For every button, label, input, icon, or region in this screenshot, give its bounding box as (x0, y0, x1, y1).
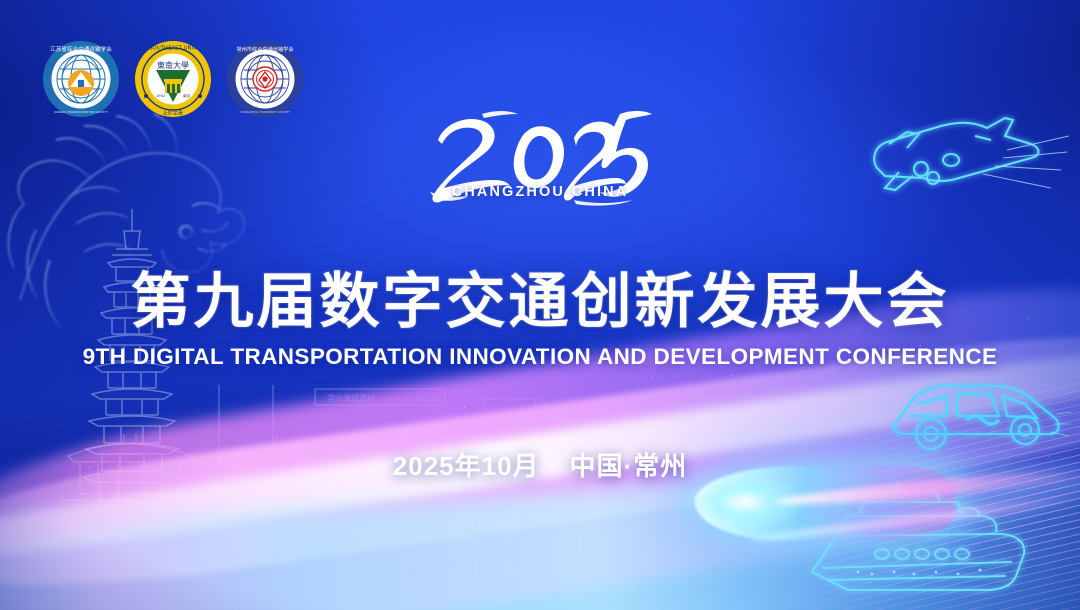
svg-text:SOUTHEAST UNIV: SOUTHEAST UNIV (149, 46, 197, 52)
conference-title-chinese: 第九届数字交通创新发展大会 (0, 272, 1080, 332)
conference-poster: 常州淹城遗址 (0, 0, 1080, 610)
event-date: 2025年10月 (393, 446, 540, 483)
svg-text:常州淹城遗址: 常州淹城遗址 (327, 393, 375, 403)
svg-text:江苏省综合交通运输学会: 江苏省综合交通运输学会 (50, 45, 112, 53)
year-city-line: CHANGZHOU·CHINA (452, 184, 629, 200)
svg-text:東南大學: 東南大學 (157, 60, 189, 70)
ship-wake-lines (640, 369, 1080, 610)
svg-text:常州市综合交通运输学会: 常州市综合交通运输学会 (236, 45, 293, 53)
event-location: 中国·常州 (570, 446, 688, 483)
year-block: CHANGZHOU·CHINA (0, 104, 1080, 200)
cruise-ship-wireframe (802, 476, 1052, 610)
high-speed-train-light (655, 414, 1080, 604)
title-block: 第九届数字交通创新发展大会 9TH DIGITAL TRANSPORTATION… (0, 272, 1080, 369)
svg-text:南京: 南京 (183, 93, 191, 98)
svg-text:1902: 1902 (156, 94, 165, 98)
event-meta: 2025年10月 中国·常州 (393, 446, 687, 483)
light-ribbon-cyan (0, 388, 1080, 610)
conference-title-english: 9TH DIGITAL TRANSPORTATION INNOVATION AN… (0, 346, 1080, 369)
meta-block: 2025年10月 中国·常州 (0, 446, 1080, 483)
